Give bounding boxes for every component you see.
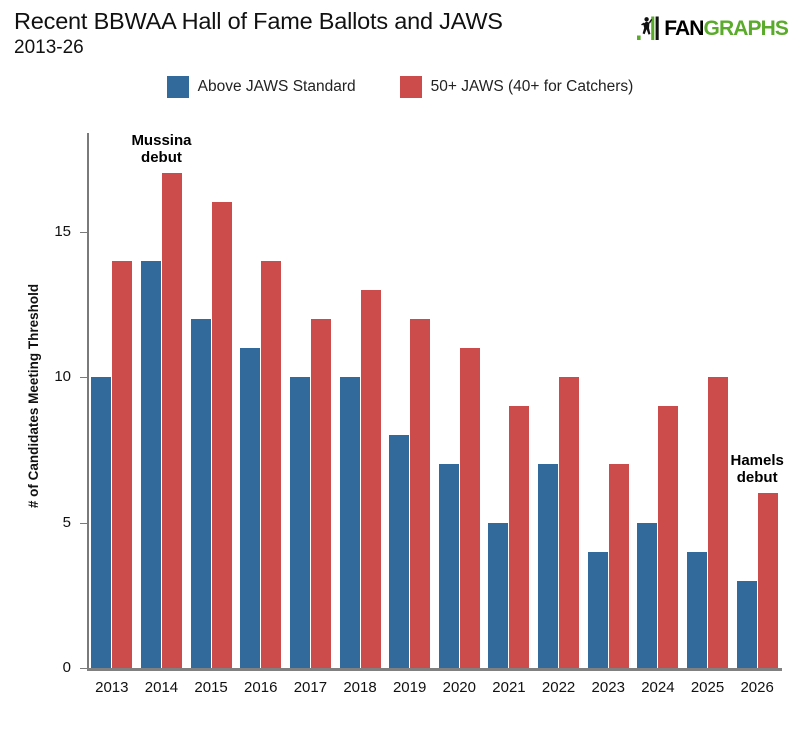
bar-red-2021[interactable]: [509, 406, 529, 668]
annotation-line-2: debut: [101, 149, 221, 166]
bar-blue-2025[interactable]: [687, 552, 707, 668]
y-axis-title-text: # of Candidates Meeting Threshold: [26, 283, 41, 507]
x-tick-label-2025: 2025: [683, 679, 733, 696]
annotation-line-1: Hamels: [697, 452, 800, 469]
bar-blue-2015[interactable]: [191, 319, 211, 668]
bar-blue-2013[interactable]: [91, 377, 111, 668]
y-tick-label: 15: [43, 223, 71, 240]
bar-red-2023[interactable]: [609, 464, 629, 668]
bar-red-2019[interactable]: [410, 319, 430, 668]
bar-blue-2023[interactable]: [588, 552, 608, 668]
bar-blue-2018[interactable]: [340, 377, 360, 668]
y-tick-mark: [80, 377, 87, 378]
y-tick-mark: [80, 668, 87, 669]
bar-blue-2021[interactable]: [488, 523, 508, 669]
bar-blue-2026[interactable]: [737, 581, 757, 668]
x-tick-label-2015: 2015: [186, 679, 236, 696]
y-tick-label: 0: [43, 659, 71, 676]
x-tick-label-2019: 2019: [385, 679, 435, 696]
x-axis-line: [87, 668, 782, 671]
bar-blue-2020[interactable]: [439, 464, 459, 668]
bar-blue-2014[interactable]: [141, 261, 161, 668]
x-tick-label-2018: 2018: [335, 679, 385, 696]
bar-red-2022[interactable]: [559, 377, 579, 668]
bar-red-2026[interactable]: [758, 493, 778, 668]
x-tick-label-2017: 2017: [286, 679, 336, 696]
bar-chart-plot: # of Candidates Meeting Threshold 051015…: [0, 0, 800, 730]
bar-red-2018[interactable]: [361, 290, 381, 668]
y-axis-line: [87, 133, 89, 668]
bar-red-2025[interactable]: [708, 377, 728, 668]
bar-blue-2019[interactable]: [389, 435, 409, 668]
annotation-line-1: Mussina: [101, 132, 221, 149]
x-tick-label-2023: 2023: [583, 679, 633, 696]
y-tick-mark: [80, 523, 87, 524]
x-tick-label-2024: 2024: [633, 679, 683, 696]
annotation-hamels: Hamelsdebut: [697, 452, 800, 486]
x-tick-label-2022: 2022: [534, 679, 584, 696]
x-tick-label-2016: 2016: [236, 679, 286, 696]
bar-red-2014[interactable]: [162, 173, 182, 668]
x-tick-label-2026: 2026: [732, 679, 782, 696]
y-tick-label: 10: [43, 368, 71, 385]
bar-red-2015[interactable]: [212, 202, 232, 668]
x-tick-label-2014: 2014: [137, 679, 187, 696]
bar-red-2017[interactable]: [311, 319, 331, 668]
bar-red-2020[interactable]: [460, 348, 480, 668]
x-tick-label-2021: 2021: [484, 679, 534, 696]
y-tick-mark: [80, 232, 87, 233]
bar-red-2016[interactable]: [261, 261, 281, 668]
bar-blue-2024[interactable]: [637, 523, 657, 669]
bar-blue-2016[interactable]: [240, 348, 260, 668]
bar-blue-2022[interactable]: [538, 464, 558, 668]
x-tick-label-2020: 2020: [435, 679, 485, 696]
annotation-mussina: Mussinadebut: [101, 132, 221, 166]
y-tick-label: 5: [43, 514, 71, 531]
annotation-line-2: debut: [697, 469, 800, 486]
bar-red-2024[interactable]: [658, 406, 678, 668]
bar-blue-2017[interactable]: [290, 377, 310, 668]
x-tick-label-2013: 2013: [87, 679, 137, 696]
bar-red-2013[interactable]: [112, 261, 132, 668]
